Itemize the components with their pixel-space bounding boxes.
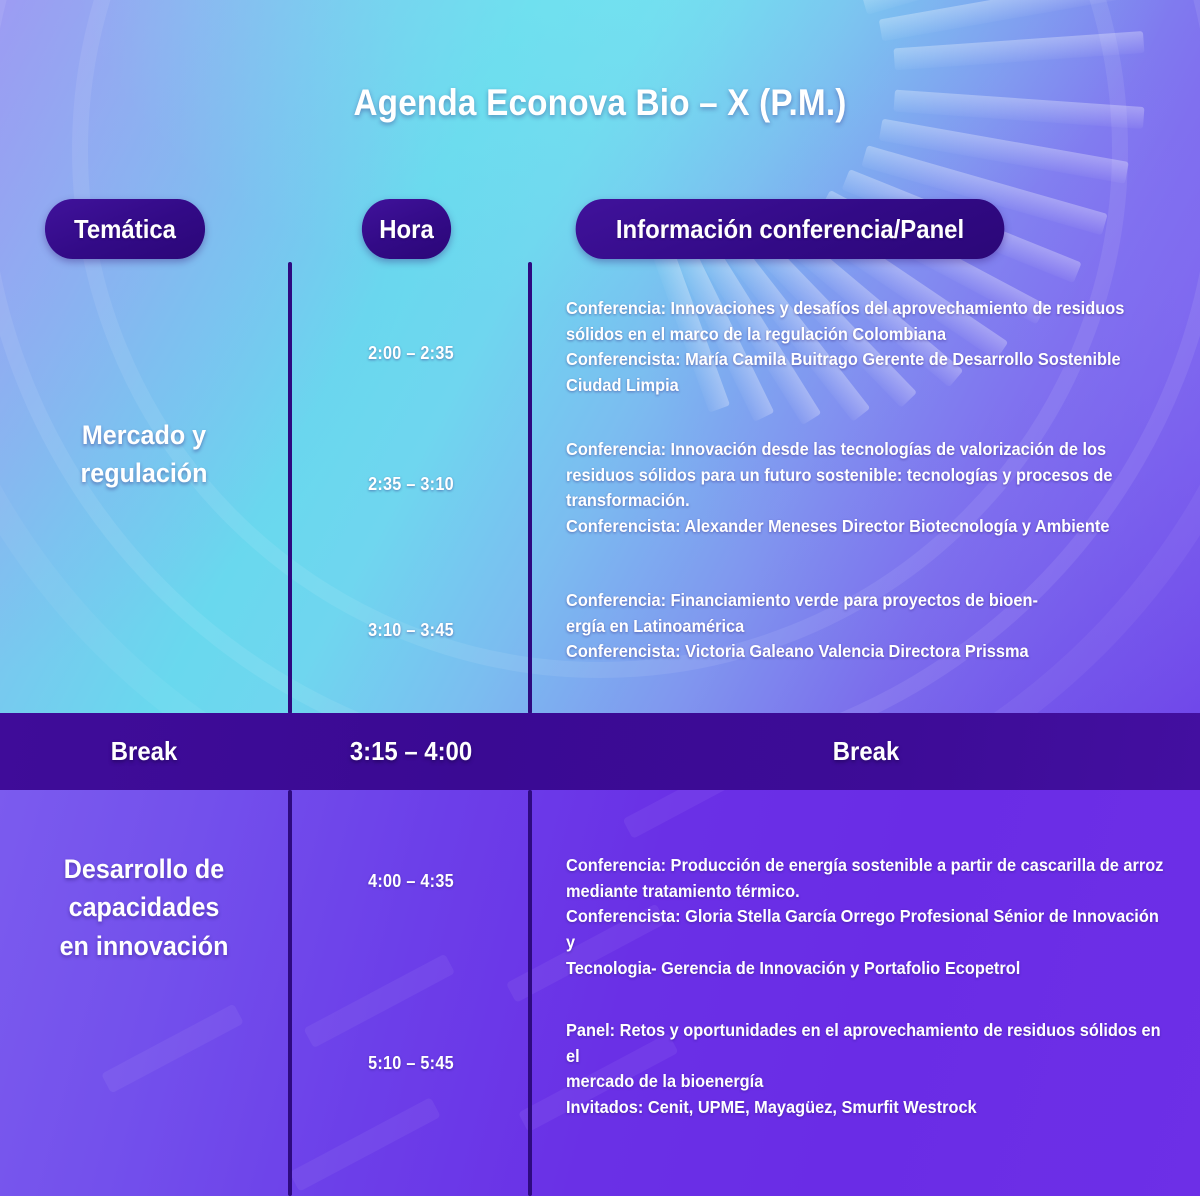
session-info-line: ergía en Latinoamérica	[566, 614, 1144, 640]
agenda-poster: Agenda Econova Bio – X (P.M.) Temática H…	[0, 0, 1200, 1196]
header-informacion-label: Información conferencia/Panel	[616, 214, 964, 245]
session-info-line: Conferencia: Innovación desde las tecnol…	[566, 437, 1144, 463]
session-info-line: Conferencista: María Camila Buitrago Ger…	[566, 347, 1144, 373]
session-info-line: transformación.	[566, 488, 1144, 514]
session-info: Conferencia: Innovación desde las tecnol…	[566, 437, 1144, 540]
session-info-line: mercado de la bioenergía	[566, 1069, 1166, 1095]
time-cell: 4:00 – 4:35	[304, 871, 518, 892]
column-divider-hora-info-top	[528, 262, 532, 714]
session-info-line: residuos sólidos para un futuro sostenib…	[566, 463, 1144, 489]
session-info-line: Panel: Retos y oportunidades en el aprov…	[566, 1018, 1166, 1069]
session-info-line: Conferencista: Gloria Stella García Orre…	[566, 904, 1166, 955]
theme-label-mercado-y-regulacion: Mercado yregulación	[16, 416, 273, 493]
session-info-line: sólidos en el marco de la regulación Col…	[566, 322, 1144, 348]
session-info: Conferencia: Innovaciones y desafíos del…	[566, 296, 1144, 399]
page-title: Agenda Econova Bio – X (P.M.)	[60, 82, 1140, 124]
column-divider-hora-info-bottom	[528, 790, 532, 1196]
break-info: Break	[559, 713, 1174, 790]
break-row: Break 3:15 – 4:00 Break	[0, 713, 1200, 790]
column-divider-tematica-hora-top	[288, 262, 292, 714]
session-info-line: Conferencia: Producción de energía soste…	[566, 853, 1166, 879]
session-info-line: Conferencia: Financiamiento verde para p…	[566, 588, 1144, 614]
header-hora: Hora	[362, 199, 451, 259]
theme-label-desarrollo-de-capacidades: Desarrollo decapacidadesen innovación	[16, 850, 273, 965]
time-cell: 3:10 – 3:45	[304, 620, 518, 641]
header-hora-label: Hora	[379, 214, 434, 245]
session-info-line: Invitados: Cenit, UPME, Mayagüez, Smurfi…	[566, 1095, 1166, 1121]
session-info: Conferencia: Financiamiento verde para p…	[566, 588, 1144, 665]
header-tematica-label: Temática	[74, 214, 176, 245]
header-tematica: Temática	[45, 199, 205, 259]
break-theme: Break	[12, 713, 277, 790]
time-cell: 2:00 – 2:35	[304, 343, 518, 364]
time-cell: 5:10 – 5:45	[304, 1053, 518, 1074]
header-informacion: Información conferencia/Panel	[576, 199, 1005, 259]
session-info-line: Ciudad Limpia	[566, 373, 1144, 399]
session-info-line: mediante tratamiento térmico.	[566, 879, 1166, 905]
session-info-line: Conferencia: Innovaciones y desafíos del…	[566, 296, 1144, 322]
session-info-line: Conferencista: Alexander Meneses Directo…	[566, 514, 1144, 540]
break-time: 3:15 – 4:00	[302, 713, 521, 790]
time-cell: 2:35 – 3:10	[304, 474, 518, 495]
session-info: Panel: Retos y oportunidades en el aprov…	[566, 1018, 1166, 1121]
column-divider-tematica-hora-bottom	[288, 790, 292, 1196]
session-info-line: Conferencista: Victoria Galeano Valencia…	[566, 639, 1144, 665]
session-info-line: Tecnologia- Gerencia de Innovación y Por…	[566, 956, 1166, 982]
session-info: Conferencia: Producción de energía soste…	[566, 853, 1166, 982]
